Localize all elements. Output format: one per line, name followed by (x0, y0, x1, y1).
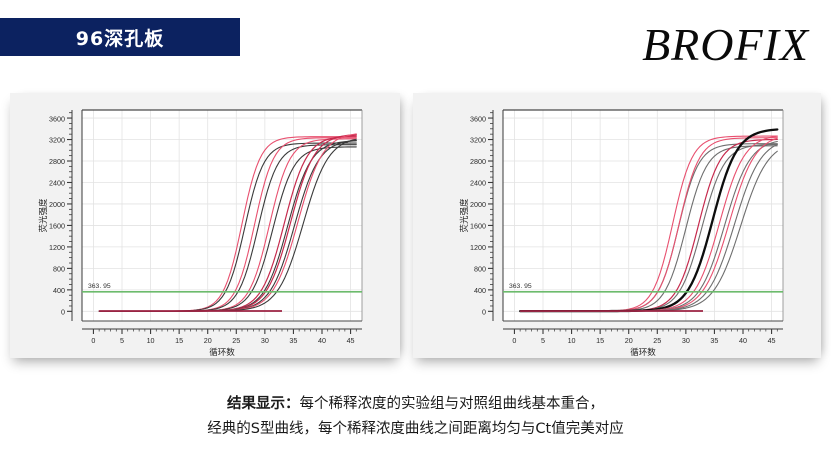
amplification-plot-left: 0400800120016002000240028003200360005101… (10, 93, 400, 358)
x-tick-label: 10 (568, 336, 576, 345)
x-tick-label: 15 (175, 336, 183, 345)
y-tick-label: 400 (474, 286, 486, 295)
x-tick-label: 25 (653, 336, 661, 345)
y-tick-label: 400 (53, 286, 65, 295)
x-tick-label: 0 (512, 336, 516, 345)
x-tick-label: 10 (147, 336, 155, 345)
y-tick-label: 3600 (470, 114, 486, 123)
y-tick-label: 2800 (470, 157, 486, 166)
caption-lead: 结果显示： (227, 396, 300, 412)
y-tick-label: 1200 (470, 243, 486, 252)
x-tick-label: 35 (289, 336, 297, 345)
y-tick-label: 800 (53, 265, 65, 274)
y-tick-label: 3600 (49, 114, 65, 123)
y-tick-label: 0 (482, 308, 486, 317)
x-axis-label: 循环数 (209, 347, 235, 358)
caption-line-1: 结果显示：每个稀释浓度的实验组与对照组曲线基本重合， (0, 392, 831, 417)
y-tick-label: 3200 (49, 136, 65, 145)
threshold-label: 363. 95 (88, 283, 111, 290)
x-tick-label: 20 (204, 336, 212, 345)
y-axis-label: 荧光强度 (38, 198, 49, 233)
x-tick-label: 45 (768, 336, 776, 345)
brand-logo: BROFIX (642, 22, 809, 68)
x-tick-label: 25 (232, 336, 240, 345)
caption-block: 结果显示：每个稀释浓度的实验组与对照组曲线基本重合， 经典的S型曲线，每个稀释浓… (0, 392, 831, 442)
page-title: 96深孔板 (76, 24, 164, 51)
chart-panel-right: 0400800120016002000240028003200360005101… (413, 93, 821, 358)
slide-root: 96深孔板 BROFIX 040080012001600200024002800… (0, 0, 831, 463)
y-tick-label: 2400 (470, 179, 486, 188)
x-tick-label: 5 (120, 336, 124, 345)
x-tick-label: 30 (682, 336, 690, 345)
y-axis-label: 荧光强度 (459, 198, 470, 233)
x-tick-label: 35 (710, 336, 718, 345)
x-tick-label: 20 (625, 336, 633, 345)
left-chart: 0400800120016002000240028003200360005101… (10, 93, 400, 358)
y-tick-label: 1200 (49, 243, 65, 252)
y-tick-label: 0 (61, 308, 65, 317)
y-tick-label: 800 (474, 265, 486, 274)
x-tick-label: 30 (261, 336, 269, 345)
y-tick-label: 2000 (49, 200, 65, 209)
y-tick-label: 2400 (49, 179, 65, 188)
threshold-label: 363. 95 (509, 283, 532, 290)
x-tick-label: 0 (91, 336, 95, 345)
x-tick-label: 5 (541, 336, 545, 345)
chart-panel-left: 0400800120016002000240028003200360005101… (10, 93, 400, 358)
x-axis-label: 循环数 (630, 347, 656, 358)
y-tick-label: 2800 (49, 157, 65, 166)
x-tick-label: 45 (347, 336, 355, 345)
x-tick-label: 40 (318, 336, 326, 345)
y-tick-label: 2000 (470, 200, 486, 209)
right-chart: 0400800120016002000240028003200360005101… (413, 93, 821, 358)
amplification-plot-right: 0400800120016002000240028003200360005101… (413, 93, 821, 358)
caption-line-2: 经典的S型曲线，每个稀释浓度曲线之间距离均匀与Ct值完美对应 (0, 417, 831, 442)
x-tick-label: 40 (739, 336, 747, 345)
caption-text-1: 每个稀释浓度的实验组与对照组曲线基本重合， (300, 396, 605, 412)
y-tick-label: 1600 (49, 222, 65, 231)
x-tick-label: 15 (596, 336, 604, 345)
y-tick-label: 1600 (470, 222, 486, 231)
y-tick-label: 3200 (470, 136, 486, 145)
title-banner: 96深孔板 (0, 18, 240, 56)
